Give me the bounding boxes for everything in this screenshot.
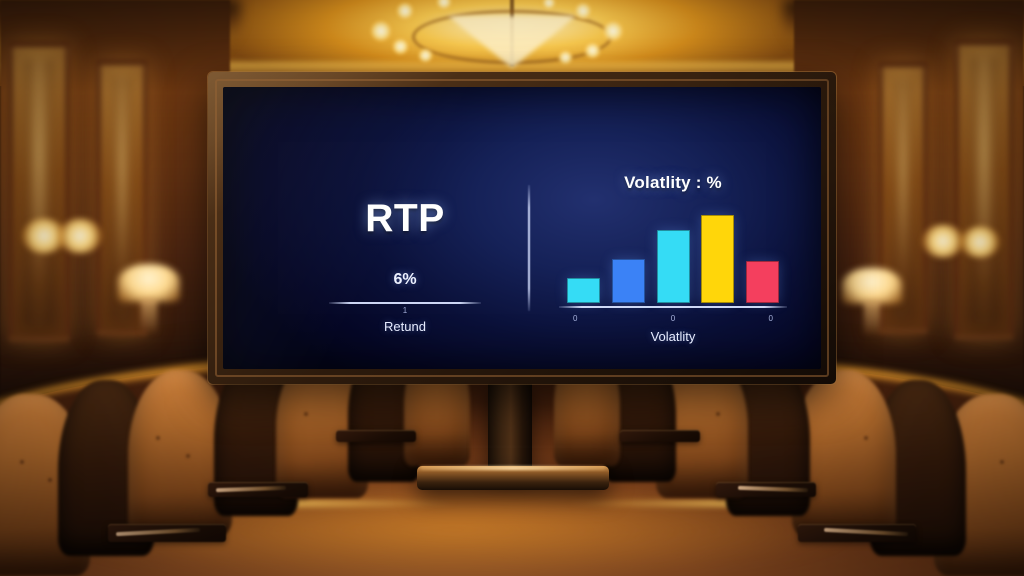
rtp-axis-tick: 1 — [315, 306, 495, 315]
panel-divider — [528, 185, 530, 311]
volatility-axis-label: Volatlity — [553, 329, 793, 344]
rtp-panel: RTP 6% 1 Retund — [315, 197, 495, 334]
volatility-chart-title: Volatlity : % — [553, 173, 793, 193]
chandelier-shade — [448, 16, 576, 68]
chair-tuft — [716, 412, 720, 416]
wall-sconce-light — [922, 224, 964, 258]
table-lamp-base — [864, 300, 880, 334]
chair-tuft — [156, 436, 160, 440]
chandelier-bulb — [370, 20, 392, 42]
wall-art-canvas — [25, 59, 53, 325]
monitor-screen[interactable]: RTP 6% 1 Retund Volatlity : % — [223, 87, 821, 369]
chandelier-bulb — [602, 20, 624, 42]
chandelier-bulb — [558, 50, 573, 65]
table-lamp-base — [141, 298, 157, 332]
chair-tuft — [20, 460, 24, 464]
rtp-title: RTP — [315, 197, 495, 241]
x-tick-label: 0 — [573, 314, 577, 323]
monitor-stand-neck — [488, 382, 532, 474]
chandelier-bulb — [436, 0, 452, 10]
volatility-panel: Volatlity : % 0 0 0 — [553, 173, 793, 344]
monitor-stand-base-highlight — [421, 466, 605, 470]
bar-3 — [701, 215, 734, 303]
notepad[interactable] — [620, 430, 700, 442]
chandelier-bulb — [542, 0, 556, 10]
chart-x-axis — [559, 306, 787, 308]
bar-1 — [612, 259, 645, 303]
chair-tuft — [48, 478, 52, 482]
chandelier — [362, 0, 662, 76]
wall-sconce-light — [58, 218, 102, 254]
boardroom-scene: RTP 6% 1 Retund Volatlity : % — [0, 0, 1024, 576]
presentation-monitor[interactable]: RTP 6% 1 Retund Volatlity : % — [208, 72, 836, 384]
chair-tuft — [186, 454, 190, 458]
rtp-axis-rule — [329, 302, 481, 304]
chandelier-bulb — [392, 38, 409, 55]
x-tick-label: 0 — [671, 314, 675, 323]
wall-art-canvas — [971, 57, 997, 323]
chair-tuft — [864, 436, 868, 440]
wall-art-panel — [8, 42, 70, 342]
notepad[interactable] — [336, 430, 416, 442]
chandelier-bulb — [574, 2, 592, 20]
volatility-bar-chart: 0 0 0 — [553, 207, 793, 303]
bar-group — [567, 207, 779, 303]
table-lamp — [842, 268, 902, 304]
chair-tuft — [304, 412, 308, 416]
chart-x-tick-labels: 0 0 0 — [559, 314, 787, 323]
wall-sconce-light — [960, 226, 1000, 258]
rtp-value: 6% — [315, 271, 495, 289]
x-tick-label: 0 — [769, 314, 773, 323]
presentation-slide: RTP 6% 1 Retund Volatlity : % — [223, 87, 821, 369]
chandelier-bulb — [396, 2, 414, 20]
chair-tuft — [1000, 460, 1004, 464]
bar-4 — [746, 261, 779, 303]
chandelier-bulb — [584, 42, 601, 59]
chandelier-bulb — [418, 48, 433, 63]
table-lamp — [118, 264, 180, 302]
wall-art-panel — [954, 40, 1014, 340]
bar-2 — [657, 230, 690, 303]
bar-0 — [567, 278, 600, 303]
rtp-caption: Retund — [315, 319, 495, 334]
